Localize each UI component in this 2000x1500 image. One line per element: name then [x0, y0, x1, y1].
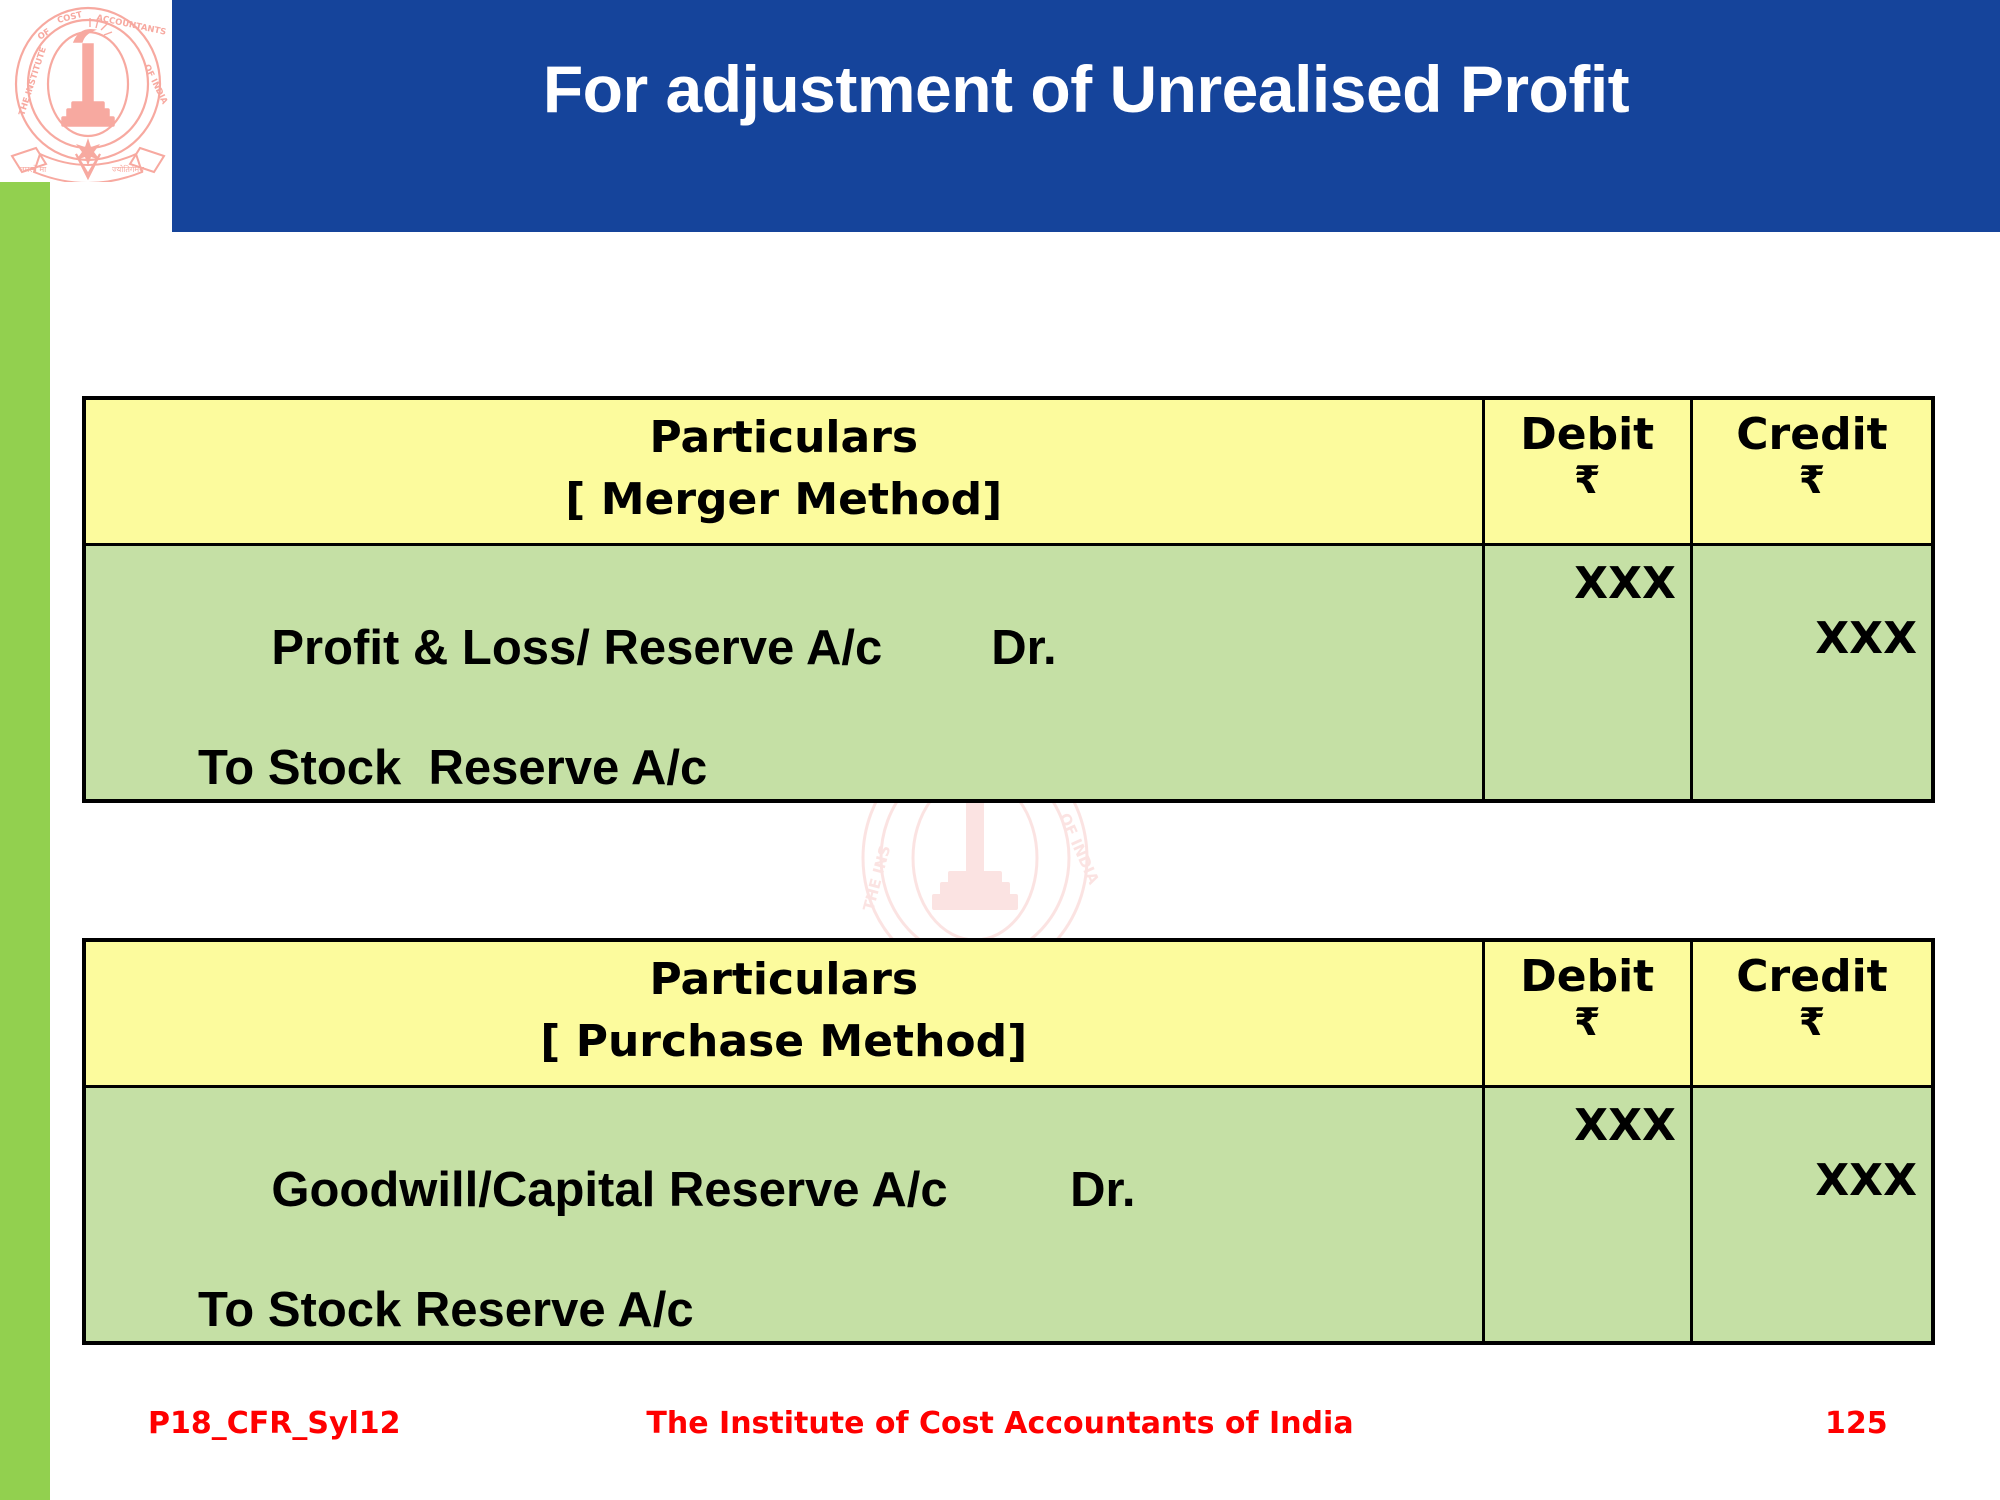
table-header-row: Particulars [ Purchase Method] Debit ₹ C… — [84, 940, 1933, 1086]
entry-cell-particulars: Profit & Loss/ Reserve A/c Dr. To Stock … — [84, 544, 1483, 801]
debit-amount-line1: XXX — [1485, 1098, 1676, 1153]
header-particulars-line1: Particulars — [86, 410, 1482, 466]
rupee-icon: ₹ — [1693, 459, 1931, 502]
entry-debit-account: Profit & Loss/ Reserve A/c — [271, 621, 882, 675]
header-particulars-line2: [ Merger Method] — [86, 472, 1482, 528]
slide-title: For adjustment of Unrealised Profit — [172, 52, 2000, 128]
table-row: Goodwill/Capital Reserve A/c Dr. To Stoc… — [84, 1086, 1933, 1343]
header-cell-credit: Credit ₹ — [1691, 398, 1933, 544]
journal-entry-table-purchase: Particulars [ Purchase Method] Debit ₹ C… — [82, 938, 1935, 1345]
footer-organisation: The Institute of Cost Accountants of Ind… — [0, 1406, 2000, 1441]
journal-entry-table-merger: Particulars [ Merger Method] Debit ₹ Cre… — [82, 396, 1935, 803]
entry-cell-debit-amount: XXX — [1483, 544, 1691, 801]
rupee-icon: ₹ — [1485, 1001, 1690, 1044]
entry-credit-account: To Stock Reserve A/c — [86, 739, 1482, 799]
rupee-icon: ₹ — [1485, 459, 1690, 502]
svg-text:ज्योतिर्गमय: ज्योतिर्गमय — [112, 164, 144, 174]
entry-cell-credit-amount: XXX — [1691, 544, 1933, 801]
header-particulars-line2: [ Purchase Method] — [86, 1014, 1482, 1070]
credit-amount-line2: XXX — [1693, 611, 1917, 666]
entry-dr-marker: Dr. — [991, 621, 1056, 675]
rupee-icon: ₹ — [1693, 1001, 1931, 1044]
credit-amount-line2: XXX — [1693, 1153, 1917, 1208]
header-cell-debit: Debit ₹ — [1483, 398, 1691, 544]
entry-cell-particulars: Goodwill/Capital Reserve A/c Dr. To Stoc… — [84, 1086, 1483, 1343]
entry-cell-debit-amount: XXX — [1483, 1086, 1691, 1343]
header-debit-label: Debit — [1520, 951, 1654, 1002]
svg-text:THE INS: THE INS — [859, 843, 894, 913]
footer-page-number: 125 — [1825, 1406, 1888, 1441]
header-particulars-line1: Particulars — [86, 952, 1482, 1008]
svg-text:OF INDIA: OF INDIA — [1055, 810, 1103, 887]
svg-text:तमसो मा: तमसो मा — [20, 164, 47, 174]
slide-footer: P18_CFR_Syl12 The Institute of Cost Acco… — [0, 1398, 2000, 1458]
header-debit-label: Debit — [1520, 409, 1654, 460]
header-cell-particulars: Particulars [ Purchase Method] — [84, 940, 1483, 1086]
table-row: Profit & Loss/ Reserve A/c Dr. To Stock … — [84, 544, 1933, 801]
debit-amount-line1: XXX — [1485, 556, 1676, 611]
slide-root: For adjustment of Unrealised Profit — [0, 0, 2000, 1500]
header-credit-label: Credit — [1736, 951, 1887, 1002]
header-credit-label: Credit — [1736, 409, 1887, 460]
header-cell-debit: Debit ₹ — [1483, 940, 1691, 1086]
entry-dr-marker: Dr. — [1070, 1163, 1135, 1217]
header-cell-credit: Credit ₹ — [1691, 940, 1933, 1086]
left-accent-bar — [0, 182, 50, 1500]
entry-credit-account: To Stock Reserve A/c — [86, 1281, 1482, 1341]
table-header-row: Particulars [ Merger Method] Debit ₹ Cre… — [84, 398, 1933, 544]
header-cell-particulars: Particulars [ Merger Method] — [84, 398, 1483, 544]
entry-cell-credit-amount: XXX — [1691, 1086, 1933, 1343]
institute-logo-icon: THE INSTITUTE OF COST ACCOUNTANTS OF IND… — [4, 4, 172, 182]
entry-debit-account: Goodwill/Capital Reserve A/c — [271, 1163, 947, 1217]
